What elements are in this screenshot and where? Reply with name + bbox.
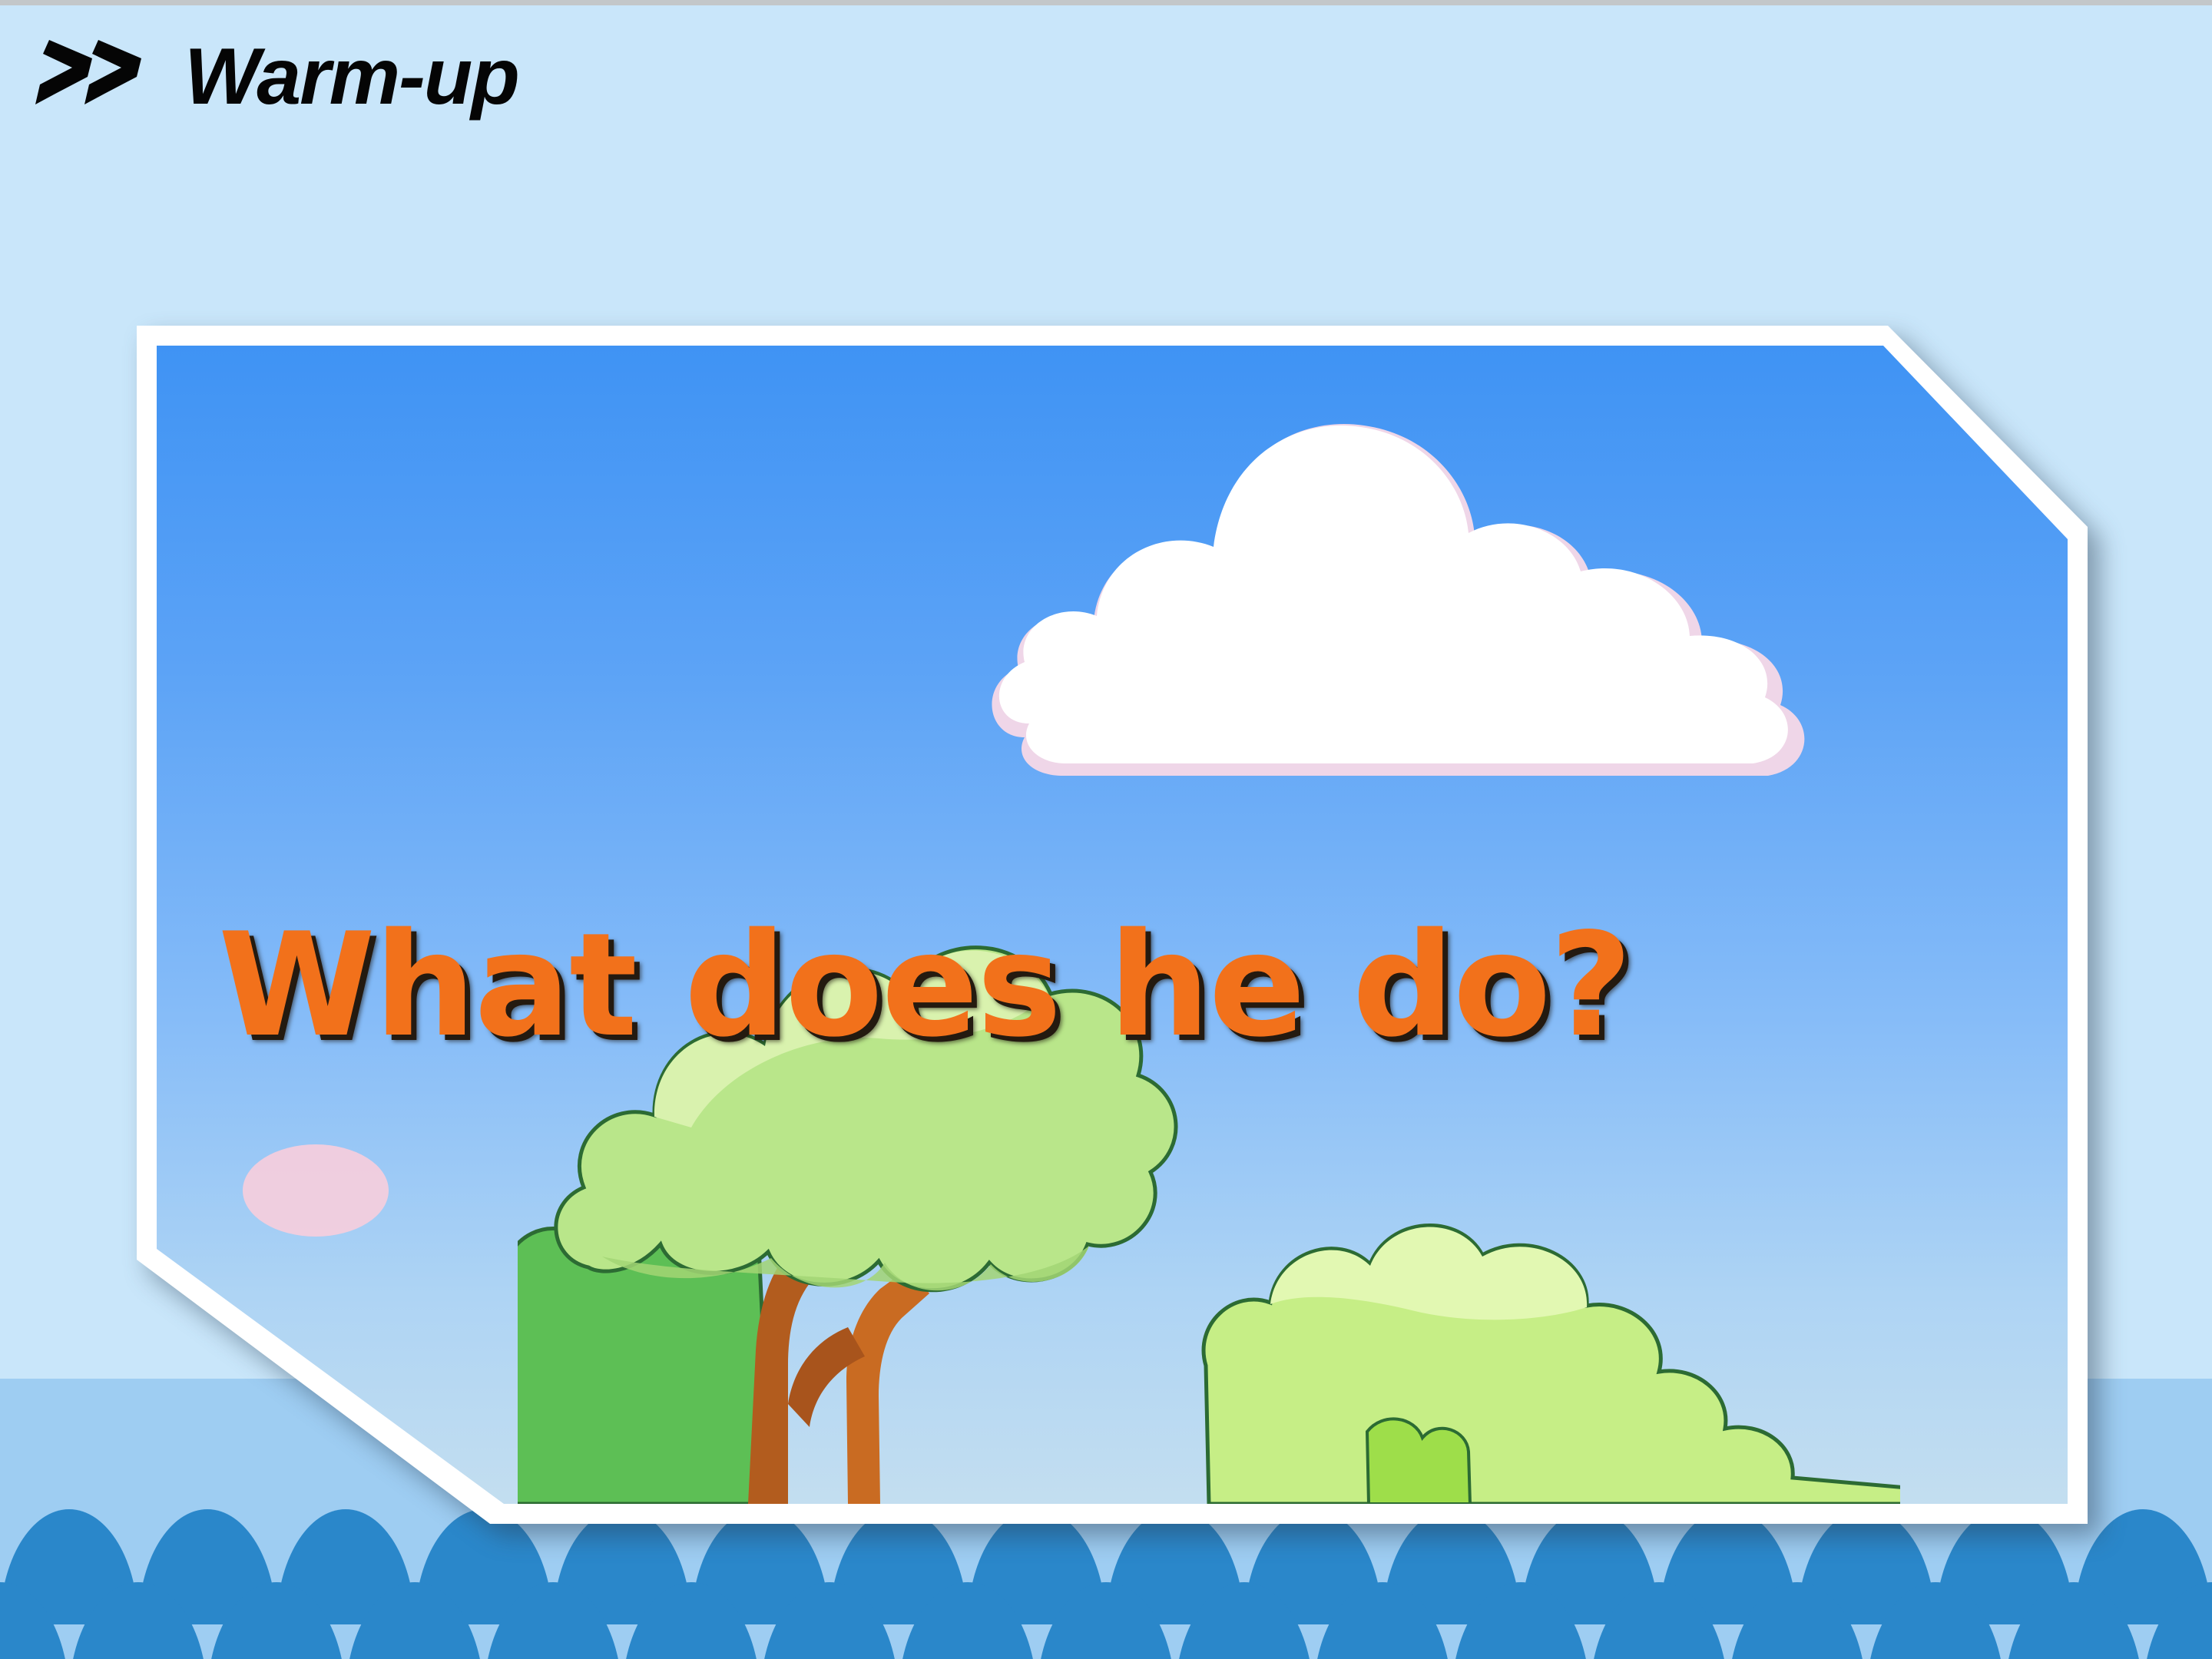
arch-shape <box>622 1582 760 1659</box>
slide-root: Warm-up <box>0 0 2212 1659</box>
arch-shape <box>2005 1582 2143 1659</box>
cloud-large-icon <box>971 376 1831 806</box>
arch-shape <box>207 1582 346 1659</box>
double-chevron-right-icon <box>29 38 144 115</box>
arch-shape <box>2143 1582 2212 1659</box>
tree-group-icon <box>518 874 1900 1504</box>
arch-shape <box>1313 1582 1452 1659</box>
arch-shape <box>1175 1582 1313 1659</box>
slide-header: Warm-up <box>0 23 2212 131</box>
arch-shape <box>1590 1582 1728 1659</box>
scallop-row-front <box>0 1582 2212 1659</box>
arch-shape <box>346 1582 484 1659</box>
arch-shape <box>1866 1582 2005 1659</box>
page-title: Warm-up <box>184 37 518 117</box>
arch-shape <box>1037 1582 1175 1659</box>
arch-shape <box>760 1582 899 1659</box>
arch-shape <box>0 1582 69 1659</box>
photo-card[interactable]: What does he do? <box>137 326 2088 1524</box>
arch-shape <box>1452 1582 1590 1659</box>
arch-shape <box>899 1582 1037 1659</box>
photo-card-image: What does he do? <box>157 346 2068 1504</box>
arch-shape <box>69 1582 207 1659</box>
top-divider-rule <box>0 0 2212 5</box>
arch-shape <box>484 1582 622 1659</box>
arch-shape <box>1728 1582 1866 1659</box>
cloud-small-pink-icon <box>243 1144 389 1237</box>
